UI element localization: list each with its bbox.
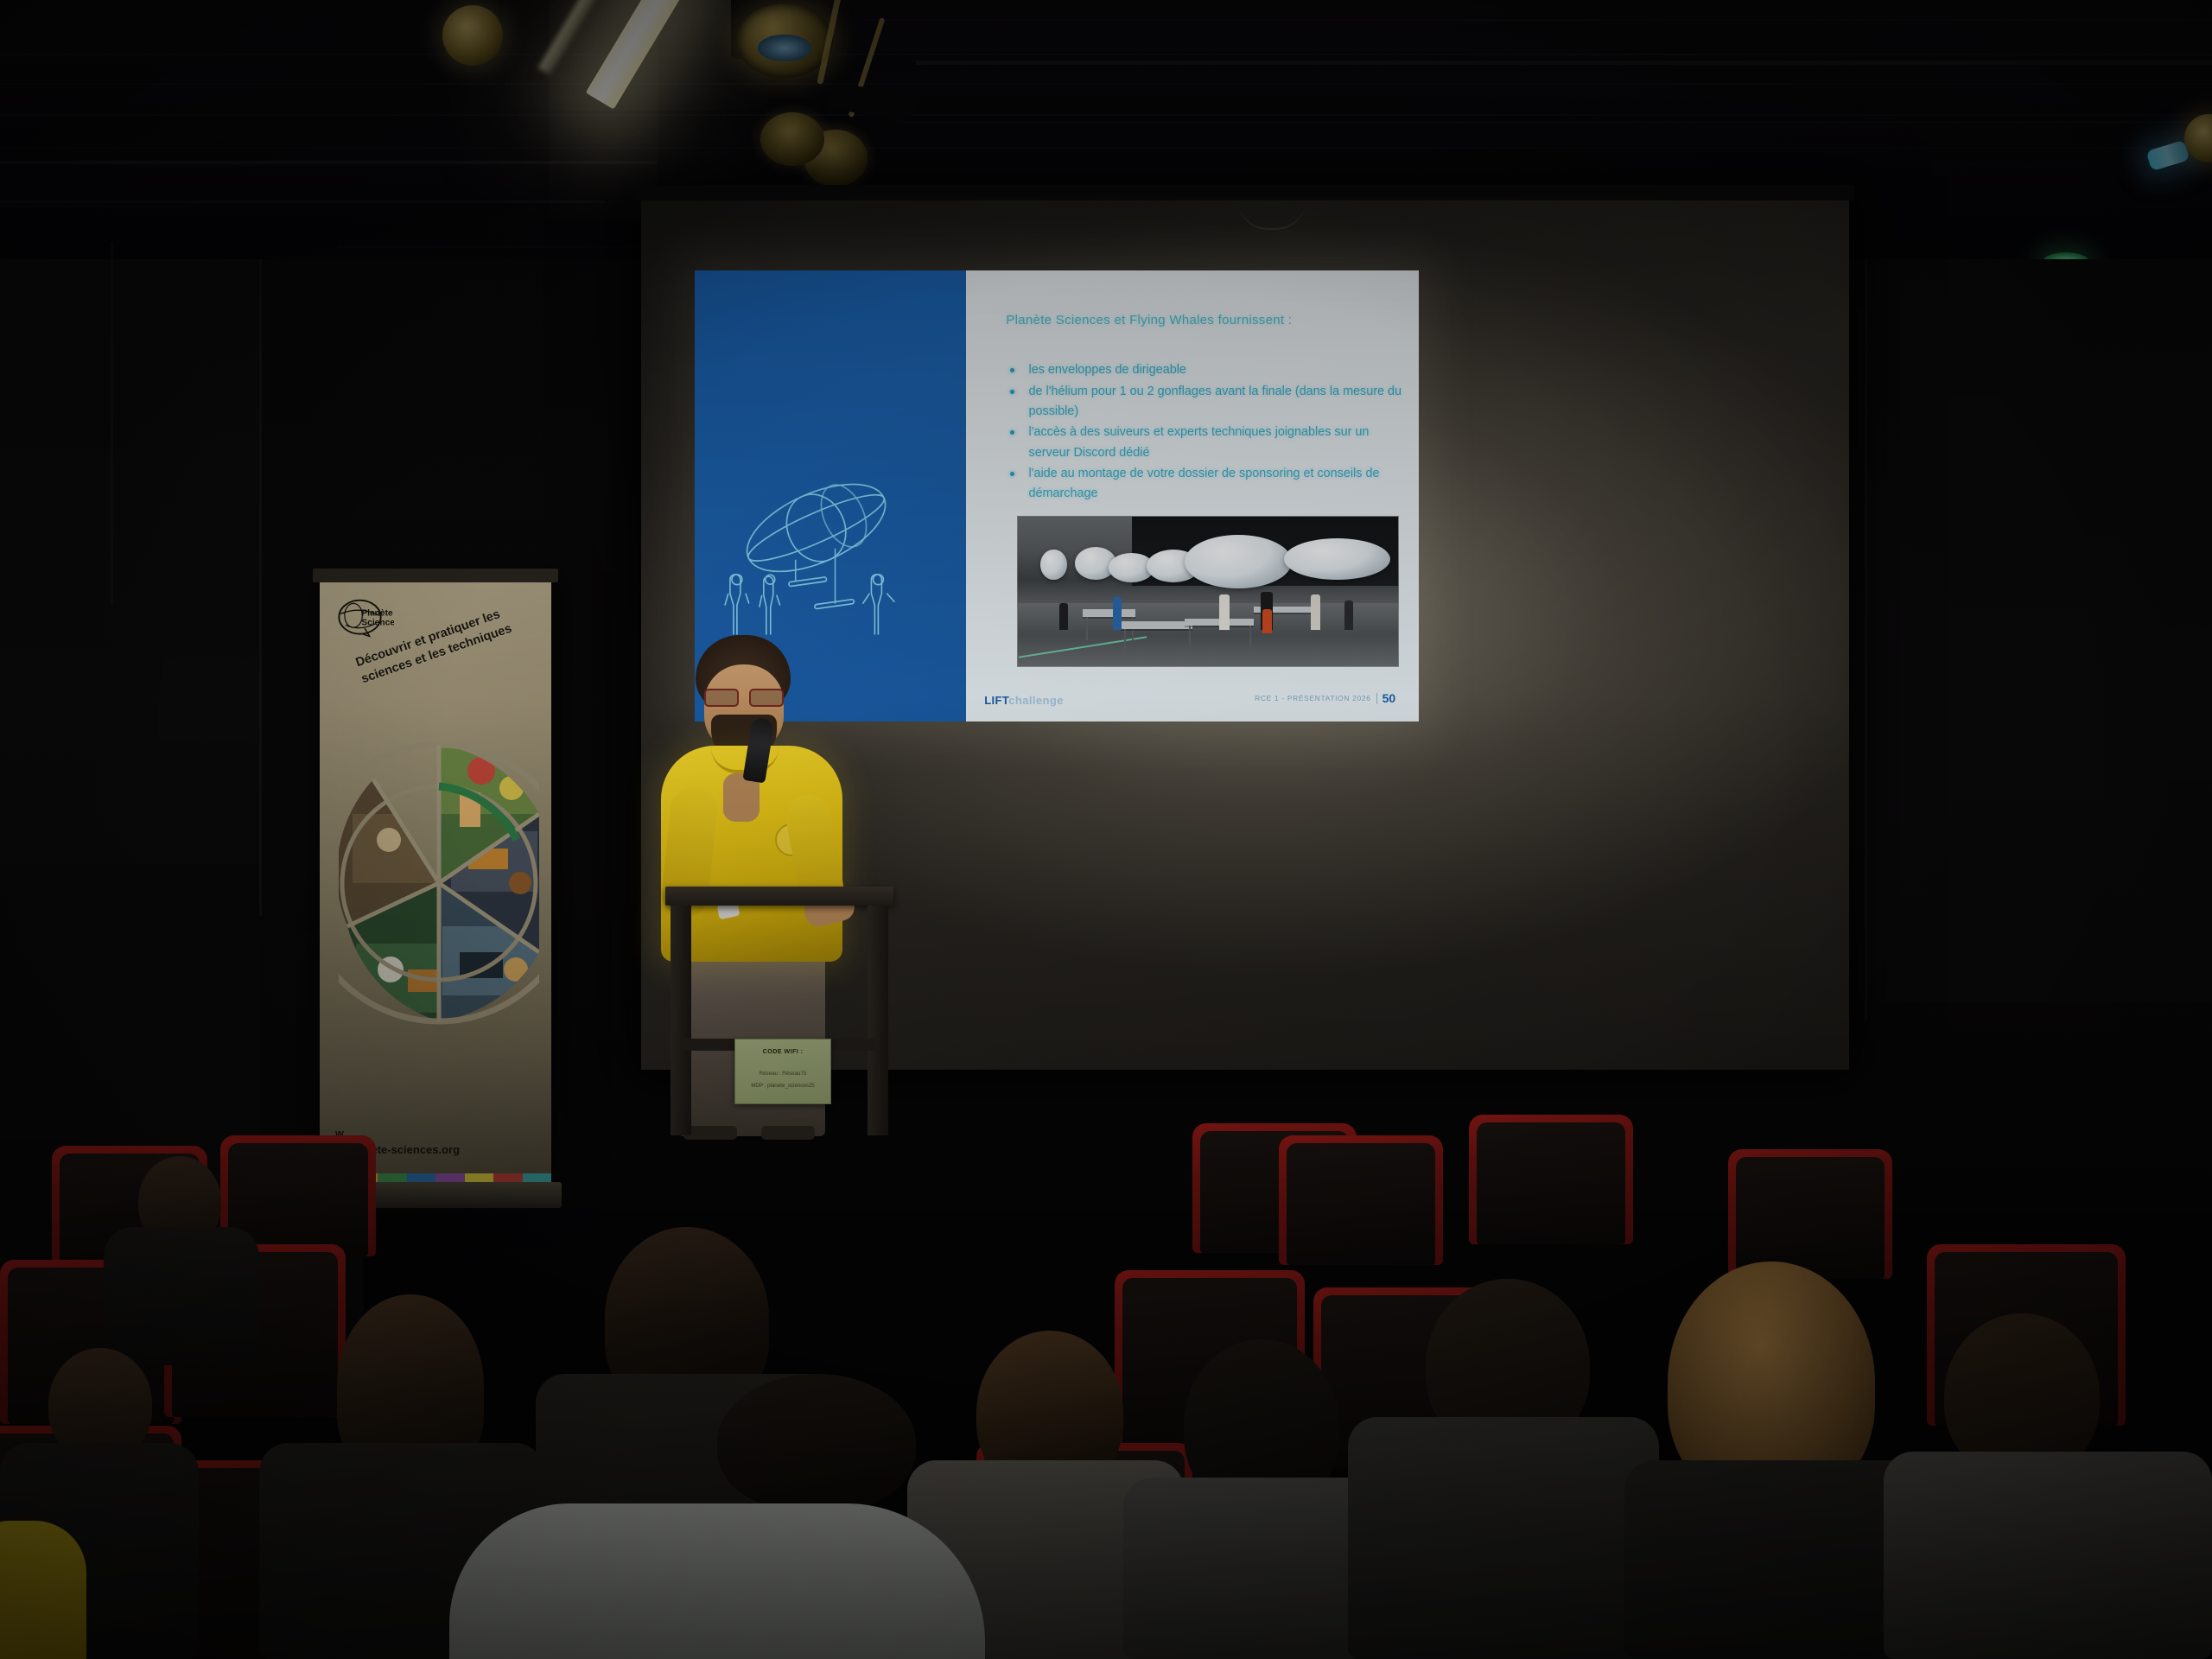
audience — [0, 1115, 2212, 1659]
auditorium-photo: Planète Sciences et Flying Whales fourni… — [0, 0, 2212, 1659]
audience-body — [1348, 1417, 1659, 1659]
footer-divider — [1376, 693, 1377, 704]
deck-label: RCE 1 - PRÉSENTATION 2026 — [1255, 694, 1370, 702]
slide-footer-logo: LIFTchallenge — [984, 694, 1064, 707]
bullet-text: l'aide au montage de votre dossier de sp… — [1029, 464, 1408, 505]
slide-bullet-item: l'aide au montage de votre dossier de sp… — [1010, 464, 1408, 505]
slide-bullet-item: de l'hélium pour 1 ou 2 gonflages avant … — [1010, 382, 1408, 423]
bullet-dot-icon — [1010, 472, 1014, 476]
slide-bullet-item: l'accès à des suiveurs et experts techni… — [1010, 423, 1408, 463]
lectern: CODE WIFI : Réseau : Réseau75 MDP : plan… — [665, 887, 893, 1135]
lift-logo-text: LIFT — [984, 694, 1008, 707]
rollup-banner: Planète Sciences Découvrir et pratiquer … — [320, 581, 551, 1185]
bullet-text: de l'hélium pour 1 ou 2 gonflages avant … — [1029, 382, 1408, 423]
overhead-lamp-ring — [442, 5, 503, 66]
bullet-dot-icon — [1010, 368, 1014, 372]
svg-text:Planète: Planète — [361, 608, 393, 618]
slide-footer-meta: RCE 1 - PRÉSENTATION 2026 50 — [1255, 691, 1395, 705]
lectern-leg — [868, 906, 888, 1135]
lectern-leg — [671, 906, 691, 1135]
svg-text:Sciences: Sciences — [361, 618, 394, 627]
audience-body — [1884, 1452, 2212, 1659]
slide-bullet-item: les enveloppes de dirigeable — [1010, 360, 1408, 380]
lectern-top — [665, 887, 893, 906]
planete-sciences-logo: Planète Sciences — [337, 596, 394, 641]
wifi-sign-title: CODE WIFI : — [735, 1047, 830, 1055]
bullet-dot-icon — [1010, 390, 1014, 394]
audience-head-front — [717, 1374, 916, 1512]
audience-hoodie-front — [449, 1503, 985, 1659]
slide-title: Planète Sciences et Flying Whales fourni… — [1006, 313, 1411, 327]
slide-photo-airships — [1017, 516, 1399, 666]
wifi-code-sign: CODE WIFI : Réseau : Réseau75 MDP : plan… — [734, 1039, 831, 1104]
banner-photo-wheel — [339, 710, 539, 1056]
audience-body — [104, 1227, 259, 1365]
slide-bullet-list: les enveloppes de dirigeable de l'hélium… — [1010, 360, 1408, 505]
wifi-sign-network: Réseau : Réseau75 — [735, 1071, 830, 1077]
theatre-spotlight — [736, 3, 833, 78]
bullet-text: l'accès à des suiveurs et experts techni… — [1029, 423, 1408, 463]
presenter-glasses-icon — [704, 689, 784, 703]
slide-page-number: 50 — [1382, 691, 1396, 705]
banner-top-rail — [313, 569, 558, 582]
overhead-spot-small — [760, 112, 824, 166]
bullet-text: les enveloppes de dirigeable — [1029, 360, 1408, 380]
bullet-dot-icon — [1010, 430, 1014, 435]
blue-led-fixture — [2145, 140, 2190, 171]
wifi-sign-password: MDP : planete_sciences25 — [735, 1083, 830, 1089]
audience-yellow-shirt — [0, 1521, 86, 1659]
challenge-logo-text: challenge — [1008, 694, 1064, 707]
